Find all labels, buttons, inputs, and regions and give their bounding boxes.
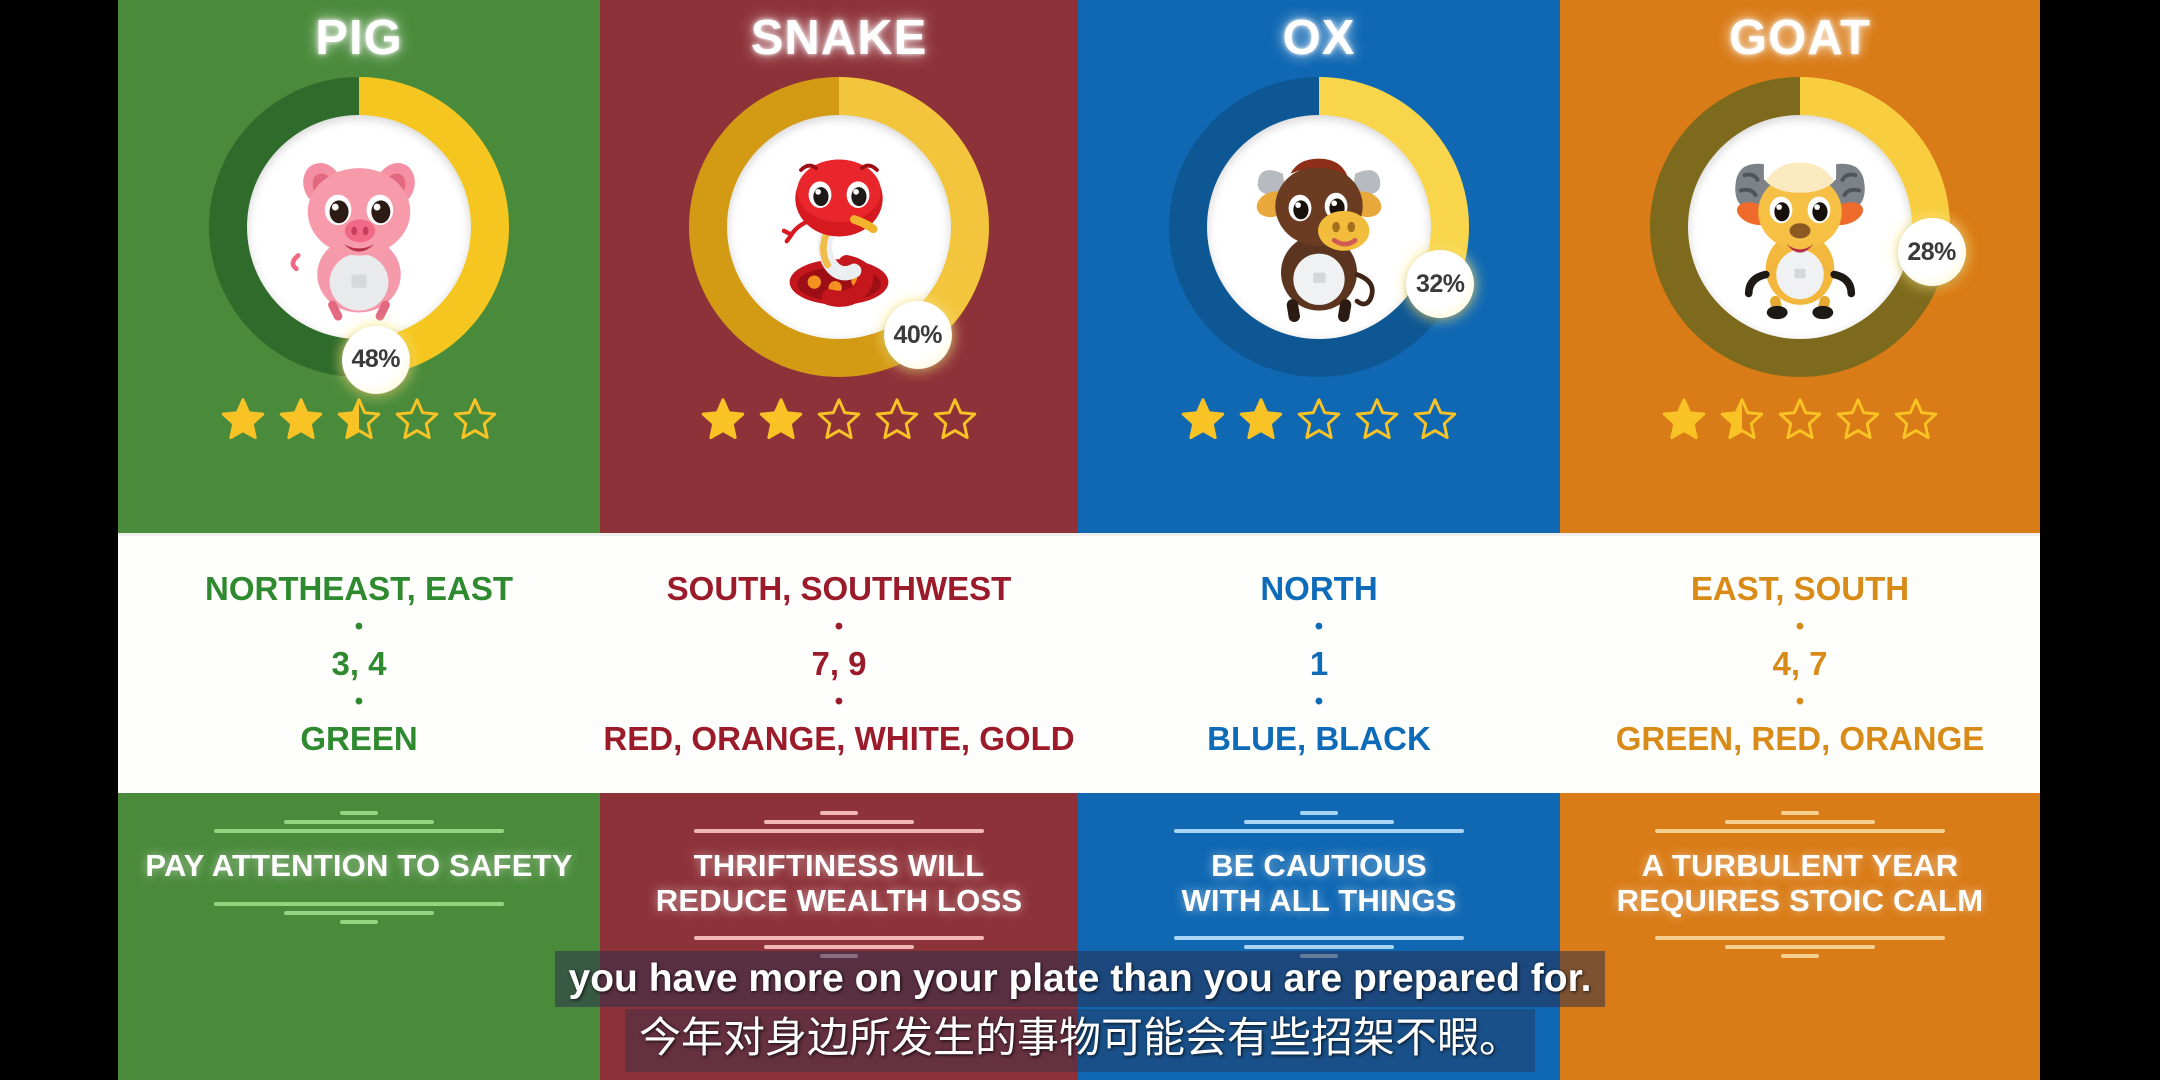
bullet-separator: •	[835, 615, 843, 639]
bullet-separator: •	[1315, 690, 1323, 714]
advice-text: BE CAUTIOUSWITH ALL THINGS	[1171, 849, 1466, 918]
advice-text: THRIFTINESS WILLREDUCE WEALTH LOSS	[646, 849, 1032, 918]
advice-line: THRIFTINESS WILL	[656, 849, 1022, 884]
divider-rule	[1655, 936, 1945, 940]
bullet-separator: •	[1796, 690, 1804, 714]
divider-rule	[764, 945, 914, 949]
advice-panel: BE CAUTIOUSWITH ALL THINGS	[1078, 793, 1560, 1080]
advice-divider-bottom	[1078, 936, 1560, 958]
lucky-directions: NORTHEAST, EAST	[205, 571, 513, 608]
zodiac-column-goat: GOAT28%EAST, SOUTH•4, 7•GREEN, RED, ORAN…	[1560, 0, 2040, 1080]
lucky-directions: SOUTH, SOUTHWEST	[667, 571, 1012, 608]
advice-line: BE CAUTIOUS	[1181, 849, 1456, 884]
star-icon	[1297, 397, 1341, 441]
zodiac-title: GOAT	[1729, 14, 1871, 63]
star-rating	[1662, 397, 1938, 441]
lucky-colors: GREEN, RED, ORANGE	[1616, 721, 1985, 758]
zodiac-column-pig: PIG48%NORTHEAST, EAST•3, 4•GREENPAY ATTE…	[118, 0, 600, 1080]
star-icon	[395, 397, 439, 441]
divider-rule	[1725, 945, 1875, 949]
lucky-info-panel: SOUTH, SOUTHWEST•7, 9•RED, ORANGE, WHITE…	[600, 533, 1078, 793]
bullet-separator: •	[355, 690, 363, 714]
star-icon	[1355, 397, 1399, 441]
divider-rule	[214, 829, 504, 833]
star-icon	[1894, 397, 1938, 441]
lucky-numbers: 1	[1310, 646, 1328, 683]
star-icon	[1239, 397, 1283, 441]
snake-icon	[744, 132, 934, 322]
divider-rule	[1244, 820, 1394, 824]
advice-divider-bottom	[600, 936, 1078, 958]
divider-rule	[340, 920, 378, 924]
star-icon	[453, 397, 497, 441]
zodiac-forecast-screen: PIG48%NORTHEAST, EAST•3, 4•GREENPAY ATTE…	[0, 0, 2160, 1080]
star-rating	[701, 397, 977, 441]
percent-badge: 32%	[1406, 250, 1474, 318]
ox-icon	[1224, 132, 1414, 322]
advice-line: WITH ALL THINGS	[1181, 884, 1456, 919]
goat-icon	[1705, 132, 1895, 322]
ring-inner-disc	[1207, 115, 1431, 339]
zodiac-column-snake: SNAKE40%SOUTH, SOUTHWEST•7, 9•RED, ORANG…	[600, 0, 1078, 1080]
divider-rule	[214, 902, 504, 906]
bullet-separator: •	[355, 615, 363, 639]
divider-rule	[694, 829, 984, 833]
divider-rule	[820, 954, 858, 958]
divider-rule	[284, 820, 434, 824]
star-rating	[1181, 397, 1457, 441]
star-icon	[1778, 397, 1822, 441]
advice-line: A TURBULENT YEAR	[1617, 849, 1984, 884]
ring-inner-disc	[1688, 115, 1912, 339]
star-icon	[1662, 397, 1706, 441]
divider-rule	[1781, 811, 1819, 815]
advice-text: PAY ATTENTION TO SAFETY	[135, 849, 582, 884]
ring-inner-disc	[247, 115, 471, 339]
lucky-info-panel: NORTHEAST, EAST•3, 4•GREEN	[118, 533, 600, 793]
divider-rule	[284, 911, 434, 915]
percent-badge: 40%	[884, 301, 952, 369]
divider-rule	[1781, 954, 1819, 958]
bullet-separator: •	[835, 690, 843, 714]
star-icon	[701, 397, 745, 441]
advice-divider-top	[600, 811, 1078, 833]
divider-rule	[694, 936, 984, 940]
advice-panel: PAY ATTENTION TO SAFETY	[118, 793, 600, 1080]
lucky-info-panel: EAST, SOUTH•4, 7•GREEN, RED, ORANGE	[1560, 533, 2040, 793]
lucky-directions: EAST, SOUTH	[1691, 571, 1909, 608]
percent-badge: 28%	[1898, 218, 1966, 286]
zodiac-column-grid: PIG48%NORTHEAST, EAST•3, 4•GREENPAY ATTE…	[118, 0, 2040, 1080]
advice-text: A TURBULENT YEARREQUIRES STOIC CALM	[1607, 849, 1994, 918]
zodiac-column-ox: OX32%NORTH•1•BLUE, BLACKBE CAUTIOUSWITH …	[1078, 0, 1560, 1080]
star-icon	[1413, 397, 1457, 441]
divider-rule	[1174, 936, 1464, 940]
zodiac-header-snake: SNAKE40%	[600, 0, 1078, 533]
divider-rule	[764, 820, 914, 824]
lucky-directions: NORTH	[1260, 571, 1377, 608]
advice-divider-bottom	[118, 902, 600, 924]
divider-rule	[820, 811, 858, 815]
star-icon	[1836, 397, 1880, 441]
advice-line: REDUCE WEALTH LOSS	[656, 884, 1022, 919]
divider-rule	[1300, 954, 1338, 958]
star-icon	[1181, 397, 1225, 441]
zodiac-header-ox: OX32%	[1078, 0, 1560, 533]
divider-rule	[1244, 945, 1394, 949]
zodiac-title: SNAKE	[751, 14, 928, 63]
divider-rule	[1655, 829, 1945, 833]
star-icon	[817, 397, 861, 441]
bullet-separator: •	[1796, 615, 1804, 639]
zodiac-title: OX	[1283, 14, 1356, 63]
score-ring: 40%	[689, 77, 989, 377]
bullet-separator: •	[1315, 615, 1323, 639]
star-icon	[279, 397, 323, 441]
zodiac-header-pig: PIG48%	[118, 0, 600, 533]
lucky-numbers: 3, 4	[331, 646, 386, 683]
advice-line: PAY ATTENTION TO SAFETY	[145, 849, 572, 884]
advice-panel: THRIFTINESS WILLREDUCE WEALTH LOSS	[600, 793, 1078, 1080]
zodiac-title: PIG	[315, 14, 402, 63]
divider-rule	[1300, 811, 1338, 815]
lucky-colors: RED, ORANGE, WHITE, GOLD	[603, 721, 1074, 758]
zodiac-header-goat: GOAT28%	[1560, 0, 2040, 533]
lucky-colors: GREEN	[300, 721, 417, 758]
star-icon	[221, 397, 265, 441]
star-icon	[759, 397, 803, 441]
divider-rule	[1174, 829, 1464, 833]
advice-divider-top	[118, 811, 600, 833]
star-icon	[1720, 397, 1764, 441]
advice-divider-top	[1078, 811, 1560, 833]
star-icon	[337, 397, 381, 441]
lucky-numbers: 4, 7	[1772, 646, 1827, 683]
score-ring: 48%	[209, 77, 509, 377]
lucky-numbers: 7, 9	[811, 646, 866, 683]
lucky-info-panel: NORTH•1•BLUE, BLACK	[1078, 533, 1560, 793]
advice-divider-top	[1560, 811, 2040, 833]
advice-divider-bottom	[1560, 936, 2040, 958]
star-icon	[875, 397, 919, 441]
divider-rule	[340, 811, 378, 815]
pig-icon	[264, 132, 454, 322]
lucky-colors: BLUE, BLACK	[1207, 721, 1431, 758]
score-ring: 28%	[1650, 77, 1950, 377]
advice-line: REQUIRES STOIC CALM	[1617, 884, 1984, 919]
advice-panel: A TURBULENT YEARREQUIRES STOIC CALM	[1560, 793, 2040, 1080]
score-ring: 32%	[1169, 77, 1469, 377]
star-icon	[933, 397, 977, 441]
star-rating	[221, 397, 497, 441]
divider-rule	[1725, 820, 1875, 824]
percent-badge: 48%	[342, 326, 410, 394]
